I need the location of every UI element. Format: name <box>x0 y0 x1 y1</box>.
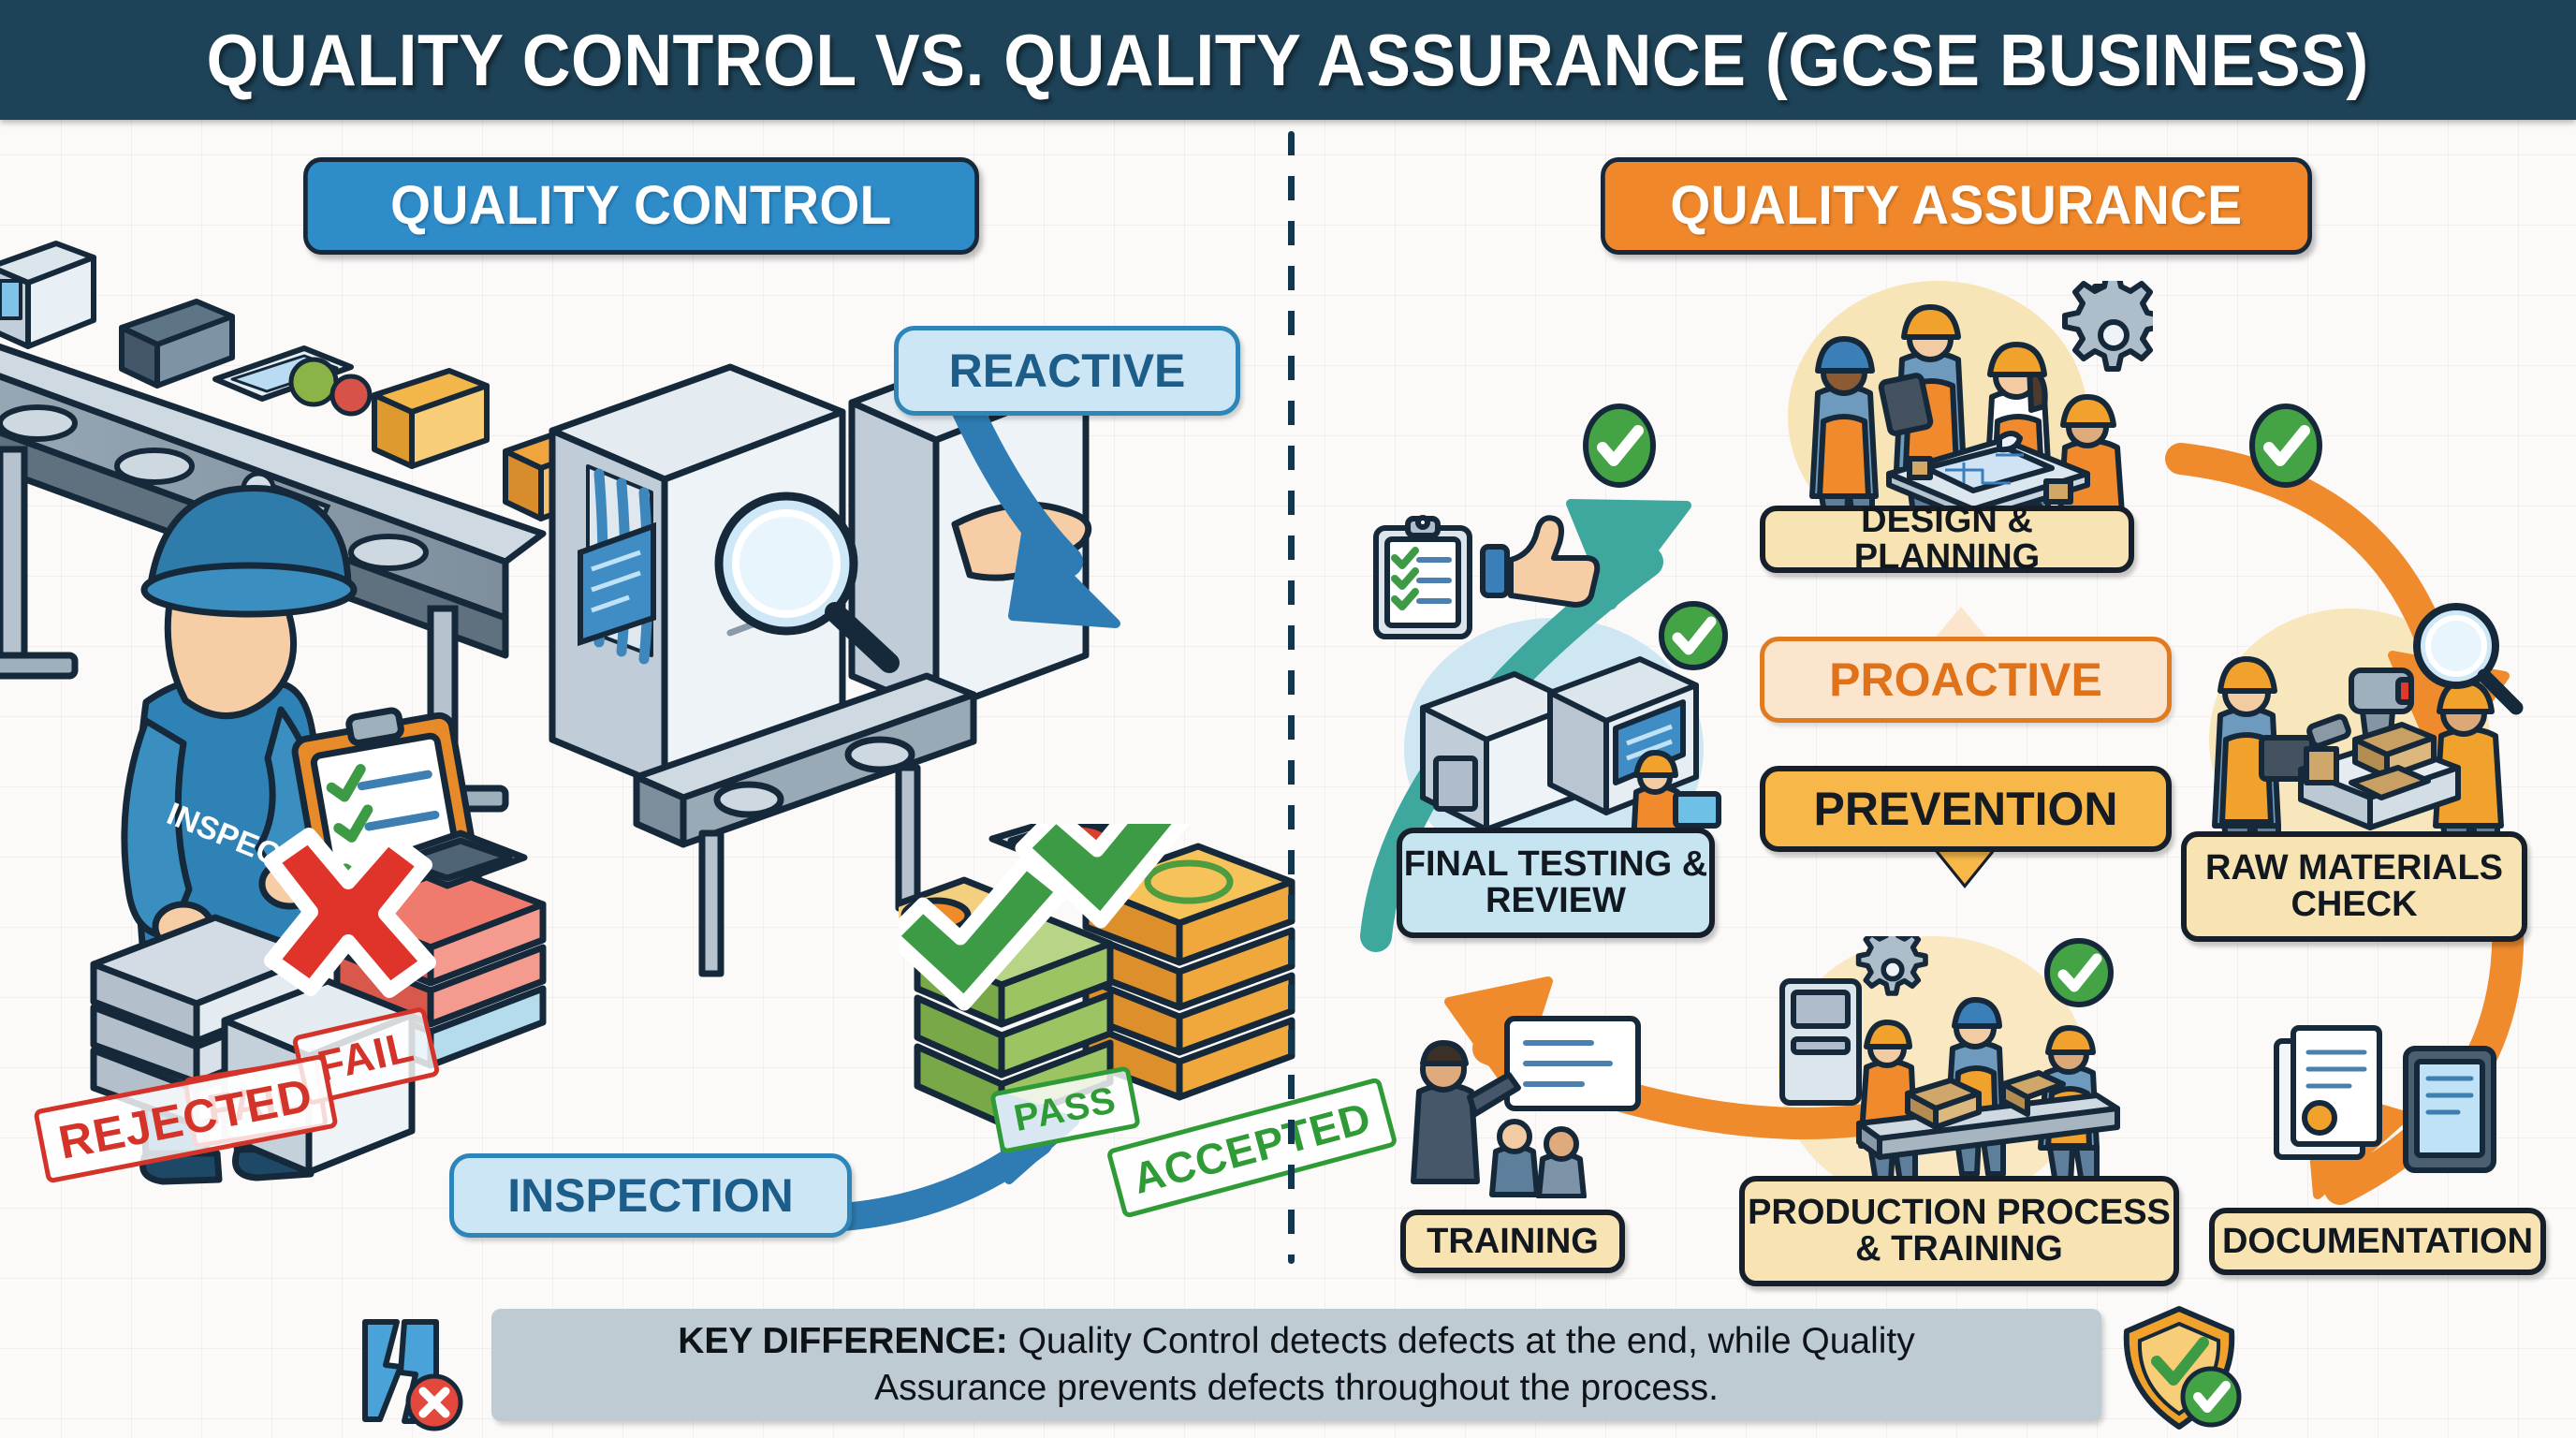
tag-reactive-label: REACTIVE <box>949 347 1186 395</box>
training-illustration <box>1395 1011 1657 1198</box>
tag-proactive: PROACTIVE <box>1760 637 2172 723</box>
gear-icon <box>2065 281 2153 369</box>
quality-control-header-badge: QUALITY CONTROL <box>303 157 979 255</box>
documents-icon <box>2276 1028 2379 1157</box>
quality-assurance-header-badge: QUALITY ASSURANCE <box>1601 157 2312 255</box>
tag-prevention: PREVENTION <box>1760 766 2172 852</box>
shield-check-icon <box>2117 1303 2248 1434</box>
node-label-design-planning: DESIGN & PLANNING <box>1760 506 2134 573</box>
node-label-training: TRAINING <box>1400 1210 1625 1273</box>
tablet-icon <box>2406 1049 2494 1170</box>
tag-prevention-label: PREVENTION <box>1813 785 2117 833</box>
check-circle-icon-4 <box>2042 936 2115 1009</box>
check-circle-icon-1 <box>1582 403 1657 489</box>
key-difference-text: KEY DIFFERENCE: Quality Control detects … <box>594 1318 1998 1412</box>
qa-clipboard-thumbs-icons <box>1367 506 1610 693</box>
thumbs-up-icon <box>1483 518 1597 605</box>
title-bar: QUALITY CONTROL VS. QUALITY ASSURANCE (G… <box>0 0 2576 120</box>
quality-assurance-header-label: QUALITY ASSURANCE <box>1670 178 2242 233</box>
broken-product-x-icon <box>344 1311 476 1432</box>
raw-materials-illustration <box>2190 599 2527 871</box>
check-circle-icon-3 <box>1657 599 1730 672</box>
node-label-final-testing: FINAL TESTING & REVIEW <box>1397 828 1715 938</box>
check-circle-icon-2 <box>2248 403 2323 489</box>
page-title: QUALITY CONTROL VS. QUALITY ASSURANCE (G… <box>207 18 2369 103</box>
quality-control-header-label: QUALITY CONTROL <box>390 178 892 233</box>
documentation-illustration <box>2265 1020 2527 1208</box>
tag-reactive: REACTIVE <box>894 326 1240 416</box>
node-label-raw-materials: RAW MATERIALS CHECK <box>2181 831 2527 942</box>
proactive-tail <box>1933 607 1989 640</box>
tag-inspection-label: INSPECTION <box>507 1172 794 1220</box>
key-difference-lead: KEY DIFFERENCE: <box>678 1321 1008 1361</box>
clipboard-checklist-icon <box>1376 518 1470 637</box>
reactive-arrow <box>842 393 1179 655</box>
gear-icon <box>1859 936 1925 993</box>
tag-proactive-label: PROACTIVE <box>1829 656 2102 704</box>
dashed-vertical-divider-icon <box>1288 131 1295 1264</box>
node-label-production-process: PRODUCTION PROCESS & TRAINING <box>1739 1176 2179 1286</box>
tag-inspection: INSPECTION <box>449 1153 852 1238</box>
key-difference-body: Quality Control detects defects at the e… <box>874 1321 1915 1408</box>
node-label-documentation: DOCUMENTATION <box>2209 1208 2546 1275</box>
key-difference-box: KEY DIFFERENCE: Quality Control detects … <box>491 1309 2101 1421</box>
